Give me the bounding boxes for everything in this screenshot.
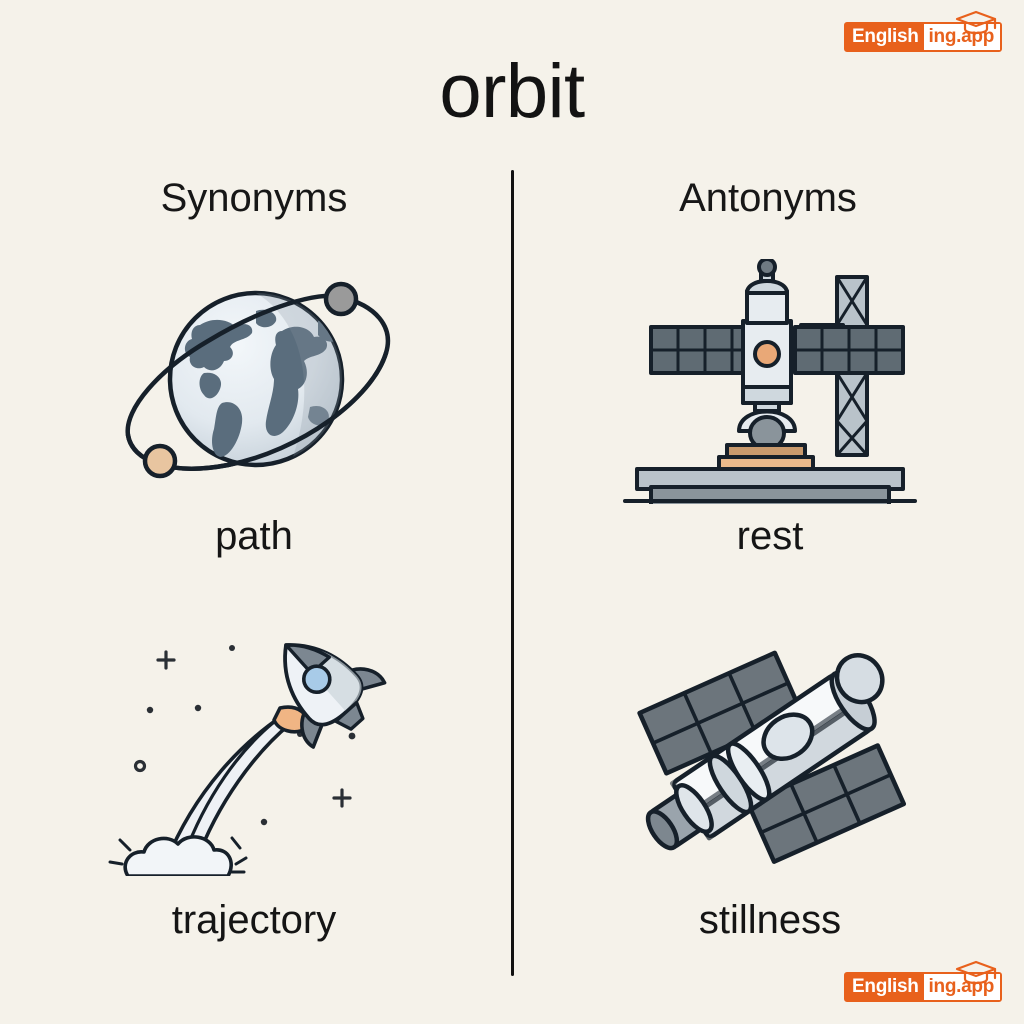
synonym-word-2: trajectory xyxy=(172,898,337,943)
graduation-cap-icon xyxy=(954,9,998,35)
antonyms-heading: Antonyms xyxy=(548,176,988,221)
idle-satellite-icon xyxy=(610,626,930,876)
antonym-word-1: rest xyxy=(737,514,804,559)
antonym-word-2: stillness xyxy=(699,898,841,943)
satellite-on-launch-pad-icon xyxy=(610,256,930,506)
earth-globe-with-orbit-ring-icon xyxy=(94,256,414,506)
synonym-cell-path: path xyxy=(24,256,484,559)
brand-logo-bottom[interactable]: English ing.app xyxy=(844,972,1002,1002)
brand-name-primary: English xyxy=(846,974,924,1000)
poster-root: English ing.app orbit Synonyms Antonyms xyxy=(0,0,1024,1024)
column-divider xyxy=(511,170,514,976)
brand-logo-top[interactable]: English ing.app xyxy=(844,22,1002,52)
rocket-launch-trail-icon xyxy=(94,626,414,876)
brand-name-primary: English xyxy=(846,24,924,50)
antonym-cell-stillness: stillness xyxy=(540,626,1000,943)
synonym-cell-trajectory: trajectory xyxy=(24,626,484,943)
graduation-cap-icon xyxy=(954,959,998,985)
page-title: orbit xyxy=(0,48,1024,135)
synonym-word-1: path xyxy=(215,514,293,559)
synonyms-heading: Synonyms xyxy=(34,176,474,221)
antonym-cell-rest: rest xyxy=(540,256,1000,559)
